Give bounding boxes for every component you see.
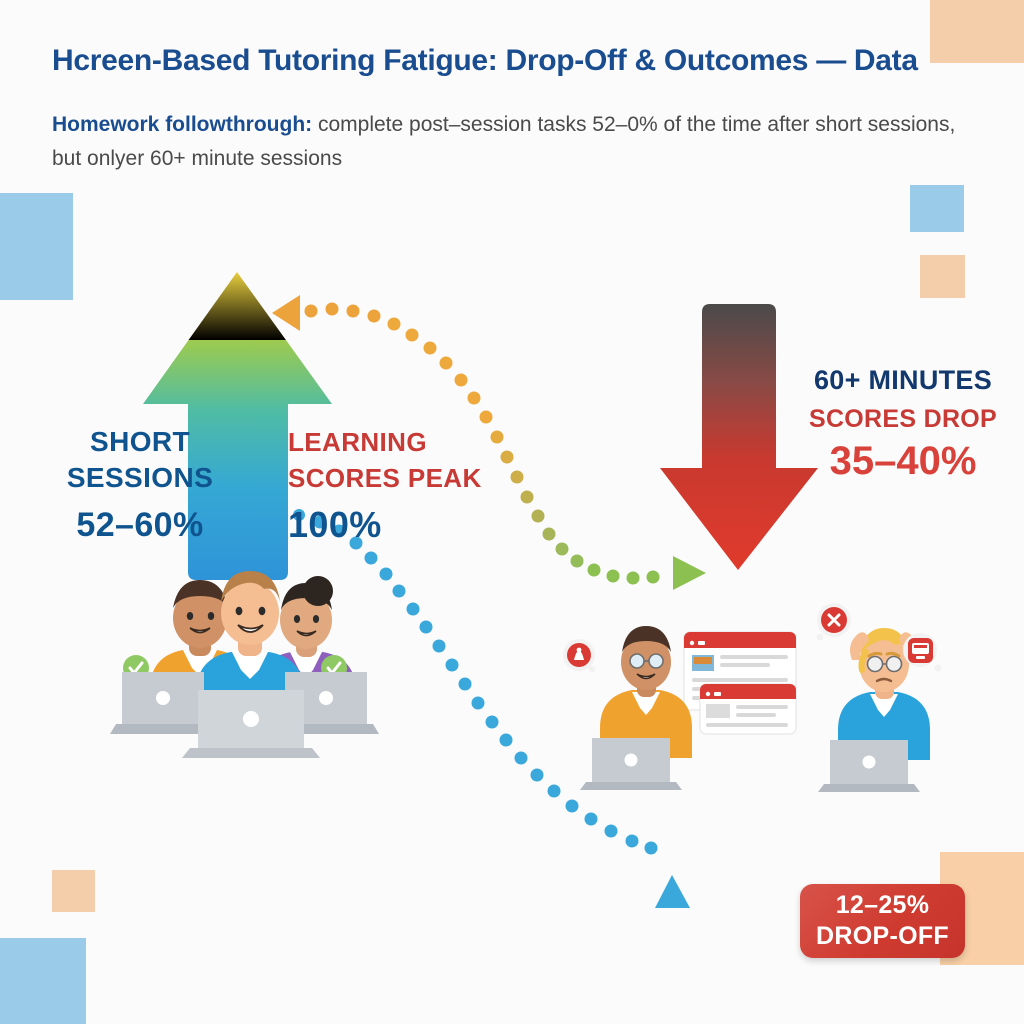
short-sessions-value: 52–60% (50, 502, 230, 548)
illustration-fatigued-students (563, 603, 941, 792)
dotted-curve-blue (293, 509, 690, 908)
green-arrowhead-icon (673, 556, 706, 590)
scores-drop-value: 35–40% (782, 438, 1024, 484)
dropoff-badge: 12–25% DROP-OFF (800, 884, 965, 958)
browser-window-back (684, 632, 796, 710)
subtitle-lead: Homework followthrough: (52, 113, 312, 136)
browser-window-front (700, 684, 796, 734)
short-sessions-line1: SHORT (50, 424, 230, 460)
student-focused (563, 626, 692, 758)
student-purple (258, 576, 356, 728)
laptop-center (182, 690, 320, 758)
student-orange (123, 580, 250, 728)
blue-arrowhead-icon (655, 875, 690, 908)
dropoff-percent: 12–25% (836, 890, 930, 921)
student-blue (196, 571, 304, 734)
deco-square-bottom-left-blue (0, 938, 86, 1024)
short-sessions-line2: SESSIONS (50, 460, 230, 496)
laptop-left (110, 672, 216, 734)
deco-square-right-blue (910, 185, 964, 232)
laptop-frustrated (818, 740, 920, 792)
page-subtitle: Homework followthrough: complete post–se… (52, 108, 962, 176)
scores-peak-label: LEARNING SCORES PEAK 100% (288, 424, 518, 550)
page-title: Hcreen-Based Tutoring Fatigue: Drop-Off … (52, 44, 952, 78)
scores-peak-line2: SCORES PEAK (288, 460, 518, 496)
orange-arrowhead-icon (272, 295, 300, 331)
deco-square-bottom-left-peach (52, 870, 95, 912)
sixty-minutes-line1: 60+ MINUTES (782, 360, 1024, 400)
sixty-minutes-label: 60+ MINUTES SCORES DROP 35–40% (782, 360, 1024, 484)
dropoff-text: DROP-OFF (816, 921, 949, 952)
scores-drop-line: SCORES DROP (782, 400, 1024, 438)
scores-peak-line1: LEARNING (288, 424, 518, 460)
student-frustrated (817, 603, 942, 760)
scores-peak-value: 100% (288, 500, 518, 550)
laptop-focused (580, 738, 682, 790)
laptop-right (273, 672, 379, 734)
short-sessions-label: SHORT SESSIONS 52–60% (50, 424, 230, 548)
illustration-happy-students (110, 571, 379, 758)
infographic-canvas: Hcreen-Based Tutoring Fatigue: Drop-Off … (0, 0, 1024, 1024)
deco-square-left-blue (0, 193, 73, 300)
deco-square-right-peach (920, 255, 965, 298)
